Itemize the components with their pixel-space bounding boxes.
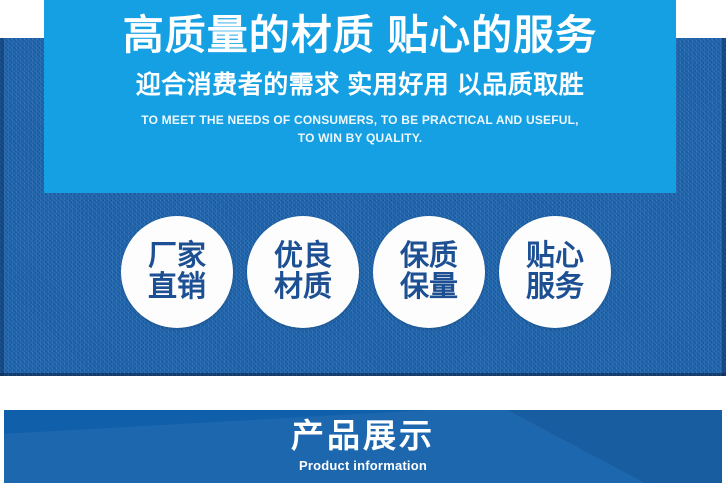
feature-line-2: 保量	[400, 272, 458, 303]
feature-circle-manufacturer-direct: 厂家 直销	[121, 216, 233, 328]
headline-english: TO MEET THE NEEDS OF CONSUMERS, TO BE PR…	[44, 111, 676, 147]
headline-subtitle: 迎合消费者的需求 实用好用 以品质取胜	[44, 68, 676, 102]
feature-circles-row: 厂家 直销 优良 材质 保质 保量 贴心 服务	[0, 216, 726, 328]
banner-title-en: Product information	[4, 457, 722, 475]
product-information-banner: 产品展示 Product information	[4, 410, 722, 483]
feature-line-1: 贴心	[526, 241, 584, 272]
feature-circle-guaranteed-quality: 保质 保量	[373, 216, 485, 328]
banner-text-group: 产品展示 Product information	[4, 416, 722, 475]
feature-line-2: 服务	[526, 272, 584, 303]
promo-poster: 高质量的材质 贴心的服务 迎合消费者的需求 实用好用 以品质取胜 TO MEET…	[0, 0, 726, 487]
banner-title-cn: 产品展示	[4, 416, 722, 456]
top-right-white-notch	[676, 0, 726, 38]
feature-line-1: 优良	[274, 241, 332, 272]
headline-english-line1: TO MEET THE NEEDS OF CONSUMERS, TO BE PR…	[44, 111, 676, 129]
headline-title: 高质量的材质 贴心的服务	[44, 10, 676, 60]
headline-english-line2: TO WIN BY QUALITY.	[44, 129, 676, 147]
top-left-white-notch	[0, 0, 44, 38]
feature-circle-considerate-service: 贴心 服务	[499, 216, 611, 328]
feature-line-1: 厂家	[148, 241, 206, 272]
headline-panel: 高质量的材质 贴心的服务 迎合消费者的需求 实用好用 以品质取胜 TO MEET…	[44, 0, 676, 193]
feature-line-2: 材质	[274, 272, 332, 303]
feature-circle-quality-material: 优良 材质	[247, 216, 359, 328]
feature-line-1: 保质	[400, 241, 458, 272]
feature-line-2: 直销	[148, 272, 206, 303]
headline-content: 高质量的材质 贴心的服务 迎合消费者的需求 实用好用 以品质取胜 TO MEET…	[44, 10, 676, 147]
